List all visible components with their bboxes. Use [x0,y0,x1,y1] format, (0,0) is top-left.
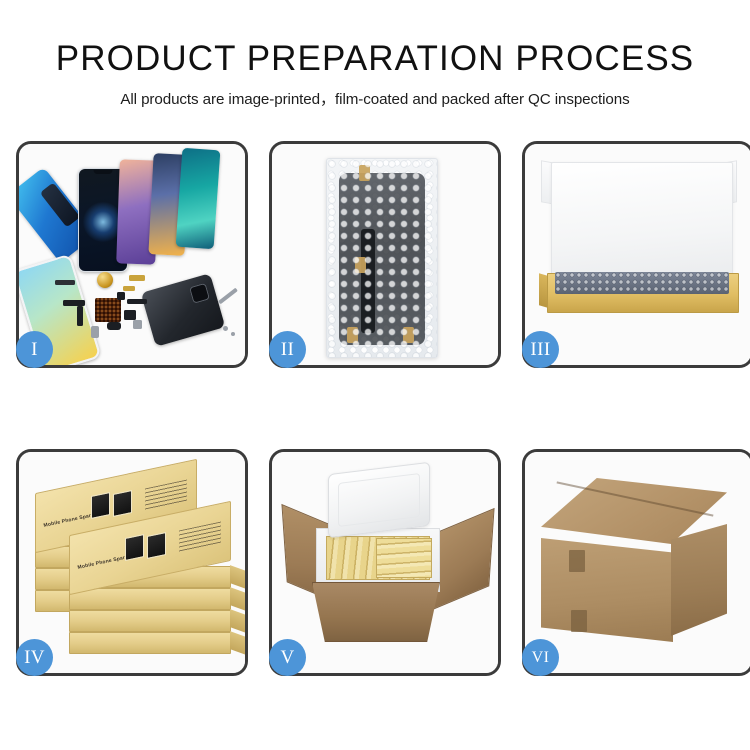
tape-tab-top [359,165,370,181]
inner-box-photo [525,144,750,365]
tape-tab-lower-left [347,327,358,343]
screwdriver-tool [218,288,238,305]
cable-part-c [127,299,147,304]
wrapped-screen-assembly [339,173,425,345]
vibrator-part [107,322,121,330]
sim-tray-part [91,326,99,338]
process-step-panel-5[interactable]: V [269,449,501,676]
flex-strip-part [55,280,75,285]
teal-display-panel [176,148,221,249]
tape-tab-middle [355,257,366,273]
foam-carton-photo [272,452,498,673]
stacked-box-right-3 [69,610,231,632]
process-step-panel-6[interactable]: VI [522,449,750,676]
screw-part-b [231,332,235,336]
white-box-lid [551,162,733,284]
lid-chip-front-b [147,532,166,559]
step-badge-6: VI [522,639,559,676]
bubble-wrap-filling [555,272,729,294]
stacked-box-right-2 [69,588,231,610]
step-badge-2: II [269,331,306,368]
bubble-wrap-bag [326,158,438,358]
lid-chip-back-a [91,492,110,519]
yellow-boxes-row-right [376,538,432,578]
stacked-boxes-photo: Mobile Phone Spare Parts Mobile Phone Sp… [19,452,245,673]
step-badge-3: III [522,331,559,368]
carton-front-face [541,538,673,642]
step-badge-4: IV [16,639,53,676]
step-badge-5: V [269,639,306,676]
phone-back-housing [141,273,226,347]
page-title: PRODUCT PREPARATION PROCESS [0,0,750,78]
lid-chip-back-b [113,490,132,517]
box-stack: Mobile Phone Spare Parts Mobile Phone Sp… [33,470,239,662]
step-badge-1: I [16,331,53,368]
process-step-grid: I II III [16,141,734,676]
bubble-wrapped-screen-photo [272,144,498,365]
cable-part-b [77,306,83,326]
process-step-panel-2[interactable]: II [269,141,501,368]
gold-connector-part [129,275,145,281]
wrapped-flex-cable [361,229,375,333]
camera-module-part [133,320,142,329]
screw-plate-part [95,298,121,322]
ic-chip-part [117,292,125,300]
sealed-carton-photo [525,452,750,673]
stacked-box-right-4 [69,632,231,654]
phone-parts-photo [19,144,245,365]
carton-tape-lower [571,610,587,632]
foam-box-lid [328,462,430,539]
carton-body [312,582,440,642]
lid-chip-front-a [125,534,144,561]
carton-side-face [671,524,727,636]
process-step-panel-1[interactable]: I [16,141,248,368]
carton-tape-upper [569,550,585,572]
process-step-panel-3[interactable]: III [522,141,750,368]
speaker-part [124,310,136,320]
screw-part-a [223,326,228,331]
page-subtitle: All products are image-printed，film-coat… [0,78,750,109]
gold-bracket-part [123,286,135,291]
process-step-panel-4[interactable]: Mobile Phone Spare Parts Mobile Phone Sp… [16,449,248,676]
page-header: PRODUCT PREPARATION PROCESS All products… [0,0,750,109]
tape-tab-lower-right [403,327,414,343]
gold-coil-part [97,272,113,288]
